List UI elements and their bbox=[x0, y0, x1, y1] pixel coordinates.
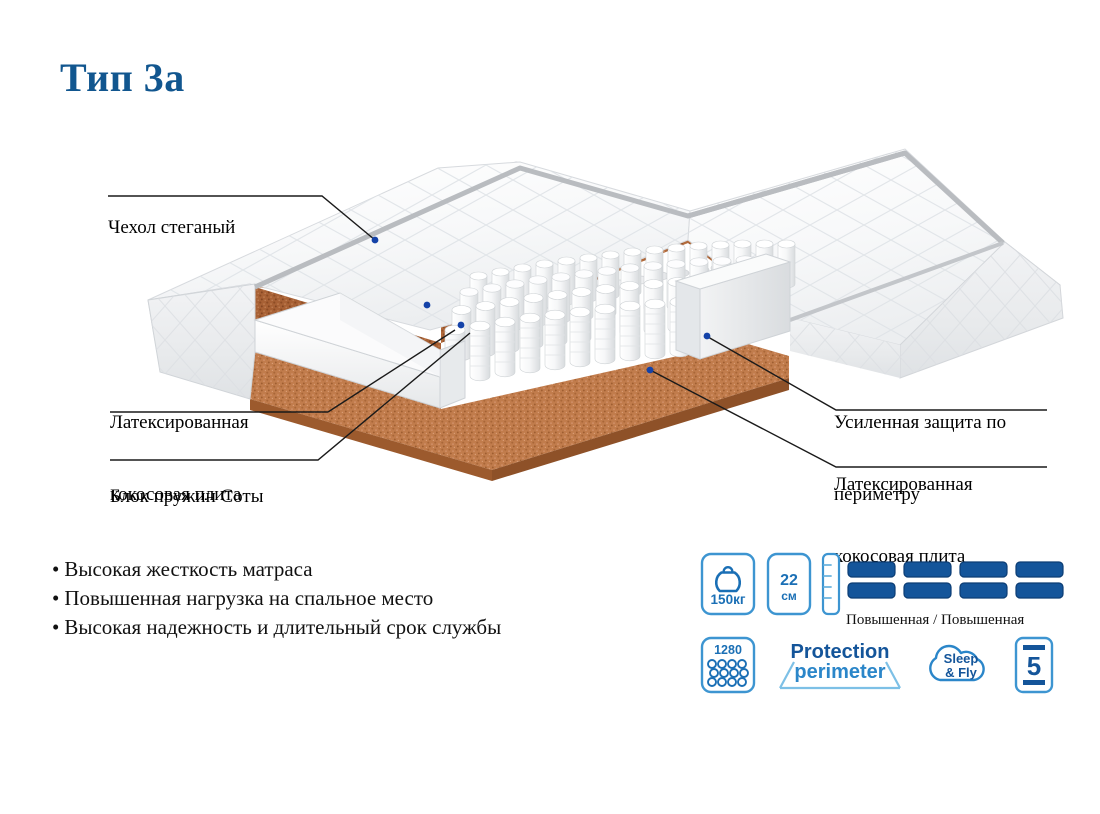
weight-icon: 150кг bbox=[700, 552, 756, 616]
bullet-marker: • bbox=[52, 615, 59, 639]
brand-line2: & Fly bbox=[945, 665, 978, 680]
bullet-marker: • bbox=[52, 557, 59, 581]
protection-perimeter-icon: Protection perimeter bbox=[774, 636, 906, 694]
feature-list: •Высокая жесткость матраса •Повышенная н… bbox=[52, 555, 501, 642]
list-item: •Высокая надежность и длительный срок сл… bbox=[52, 613, 501, 642]
protection-line2: perimeter bbox=[794, 661, 885, 683]
cloud-logo-icon: Sleep & Fly bbox=[922, 636, 1000, 694]
protection-line1: Protection bbox=[791, 641, 890, 663]
list-item: •Повышенная нагрузка на спальное место bbox=[52, 584, 501, 613]
warranty-value: 5 bbox=[1027, 651, 1041, 681]
height-value: 22 bbox=[780, 572, 798, 589]
firmness-label: Повышенная / Повышенная bbox=[846, 612, 1072, 629]
height-icon: 22 см bbox=[766, 552, 816, 616]
callout-line: Латексированная bbox=[834, 473, 973, 497]
callout-line: Блок пружин Соты bbox=[110, 485, 264, 509]
list-item-label: Высокая надежность и длительный срок слу… bbox=[64, 615, 501, 639]
firmness-indicator: Повышенная / Повышенная bbox=[846, 560, 1072, 629]
bullet-marker: • bbox=[52, 586, 59, 610]
spring-count-icon: 1280 bbox=[700, 636, 756, 694]
callout-quilted-cover: Чехол стеганый bbox=[108, 168, 235, 264]
callout-spring-block: Блок пружин Соты bbox=[110, 437, 264, 533]
list-item-label: Высокая жесткость матраса bbox=[64, 557, 312, 581]
list-item-label: Повышенная нагрузка на спальное место bbox=[64, 586, 433, 610]
max-load-value: 150кг bbox=[711, 592, 746, 607]
callout-line: Чехол стеганый bbox=[108, 216, 235, 240]
warranty-years-icon: 5 bbox=[1014, 636, 1054, 694]
spring-count-value: 1280 bbox=[714, 643, 742, 657]
firmness-bars bbox=[846, 560, 1072, 604]
height-unit: см bbox=[781, 589, 797, 603]
height-ruler-icon bbox=[820, 552, 842, 616]
callout-line: Латексированная bbox=[110, 411, 249, 435]
spec-badge-group: 150кг 22 см bbox=[700, 552, 1072, 702]
brand-line1: Sleep bbox=[944, 651, 979, 666]
list-item: •Высокая жесткость матраса bbox=[52, 555, 501, 584]
